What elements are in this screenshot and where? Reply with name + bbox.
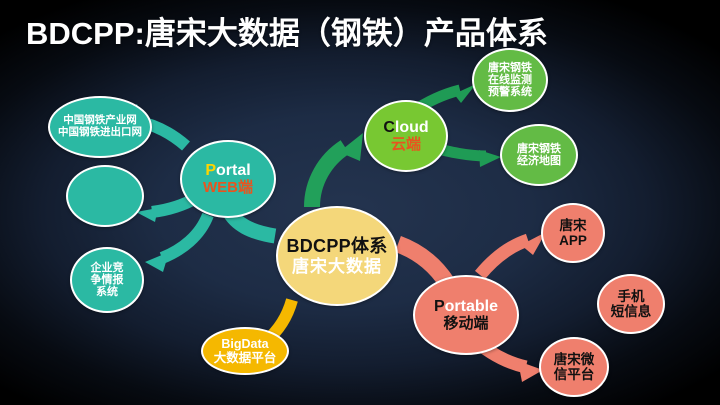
portal-cn-label: WEB端: [203, 180, 253, 197]
portable-satellite-app[interactable]: 唐宋 APP: [541, 203, 605, 263]
portal-satellite-intel-system[interactable]: 企业竞 争情报 系统: [70, 247, 144, 313]
portable-satellite-sms[interactable]: 手机 短信息: [597, 274, 665, 334]
cloud-satellite-monitor-system[interactable]: 唐宋钢铁 在线监测 预警系统: [472, 48, 548, 112]
satellite-line: 系统: [91, 286, 124, 298]
hub-node-bdcpp[interactable]: BDCPP体系 唐宋大数据: [276, 206, 398, 306]
satellite-line: 唐宋微: [554, 352, 595, 367]
portable-en-rest: ortable: [445, 298, 498, 315]
portable-en-label: Portable: [434, 298, 498, 316]
satellite-line: 手机: [611, 289, 652, 304]
satellite-line: APP: [559, 233, 587, 248]
cloud-en-rest: loud: [395, 119, 429, 136]
satellite-line: 经济地图: [517, 155, 561, 167]
branch-node-portable[interactable]: Portable 移动端: [413, 275, 519, 355]
satellite-line: 唐宋钢铁: [488, 62, 532, 74]
portal-en-initial: P: [205, 162, 216, 179]
satellite-line: 唐宋钢铁: [517, 143, 561, 155]
portal-satellite-empty[interactable]: [66, 165, 144, 227]
cloud-cn-label: 云端: [383, 137, 428, 154]
satellite-line: 企业竞: [91, 262, 124, 274]
satellite-line: 在线监测: [488, 74, 532, 86]
arrow-hub-to-cloud: [312, 133, 363, 207]
bigdata-cn-label: 大数据平台: [214, 351, 277, 365]
arrow-portal-to-empty-node: [136, 198, 196, 222]
satellite-line: 信平台: [554, 367, 595, 382]
slide-canvas: BDCPP:唐宋大数据（钢铁）产品体系: [0, 0, 720, 405]
satellite-line: 中国钢铁进出口网: [58, 127, 142, 139]
portal-en-label: Portal: [203, 162, 253, 180]
arrow-portable-to-app: [480, 232, 546, 275]
arrow-portal-to-intel-system: [145, 215, 208, 272]
cloud-satellite-econ-map[interactable]: 唐宋钢铁 经济地图: [500, 124, 578, 186]
satellite-line: 唐宋: [559, 218, 587, 233]
hub-subtitle: 唐宋大数据: [286, 257, 387, 276]
bigdata-node[interactable]: BigData 大数据平台: [201, 327, 289, 375]
cloud-en-label: Cloud: [383, 119, 428, 137]
portal-satellite-industry-sites[interactable]: 中国钢铁产业网 中国钢铁进出口网: [48, 96, 152, 158]
hub-title: BDCPP体系: [286, 236, 387, 256]
portable-satellite-wechat[interactable]: 唐宋微 信平台: [539, 337, 609, 397]
satellite-line: 短信息: [611, 304, 652, 319]
branch-node-cloud[interactable]: Cloud 云端: [364, 100, 448, 172]
satellite-line: 预警系统: [488, 86, 532, 98]
portable-en-initial: P: [434, 298, 445, 315]
branch-node-portal[interactable]: Portal WEB端: [180, 140, 276, 218]
satellite-line: 争情报: [91, 274, 124, 286]
bigdata-en-label: BigData: [214, 337, 277, 351]
portable-cn-label: 移动端: [434, 316, 498, 333]
cloud-en-initial: C: [383, 119, 395, 136]
portal-en-rest: ortal: [216, 162, 251, 179]
